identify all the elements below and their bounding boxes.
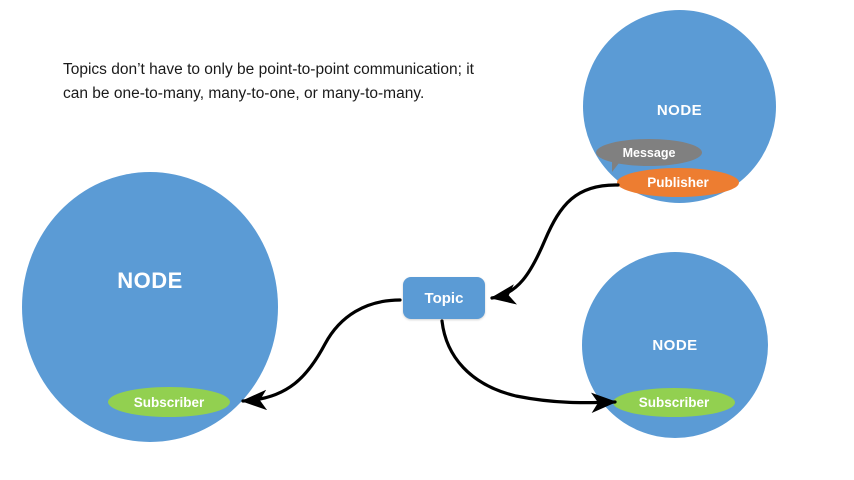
- node-bottom-right-label: NODE: [582, 337, 768, 354]
- arrow-publisher-to-topic: [492, 185, 618, 298]
- diagram-canvas: Topics don’t have to only be point-to-po…: [0, 0, 854, 480]
- message-bubble[interactable]: Message: [596, 139, 702, 166]
- caption-text: Topics don’t have to only be point-to-po…: [63, 58, 483, 106]
- node-top-right-label: NODE: [583, 102, 776, 119]
- node-left-label: NODE: [22, 268, 278, 294]
- subscriber-pill-left[interactable]: Subscriber: [108, 387, 230, 417]
- topic-box[interactable]: Topic: [403, 277, 485, 319]
- publisher-pill[interactable]: Publisher: [617, 168, 739, 197]
- subscriber-pill-bottom-right[interactable]: Subscriber: [613, 388, 735, 417]
- message-bubble-label: Message: [596, 139, 702, 166]
